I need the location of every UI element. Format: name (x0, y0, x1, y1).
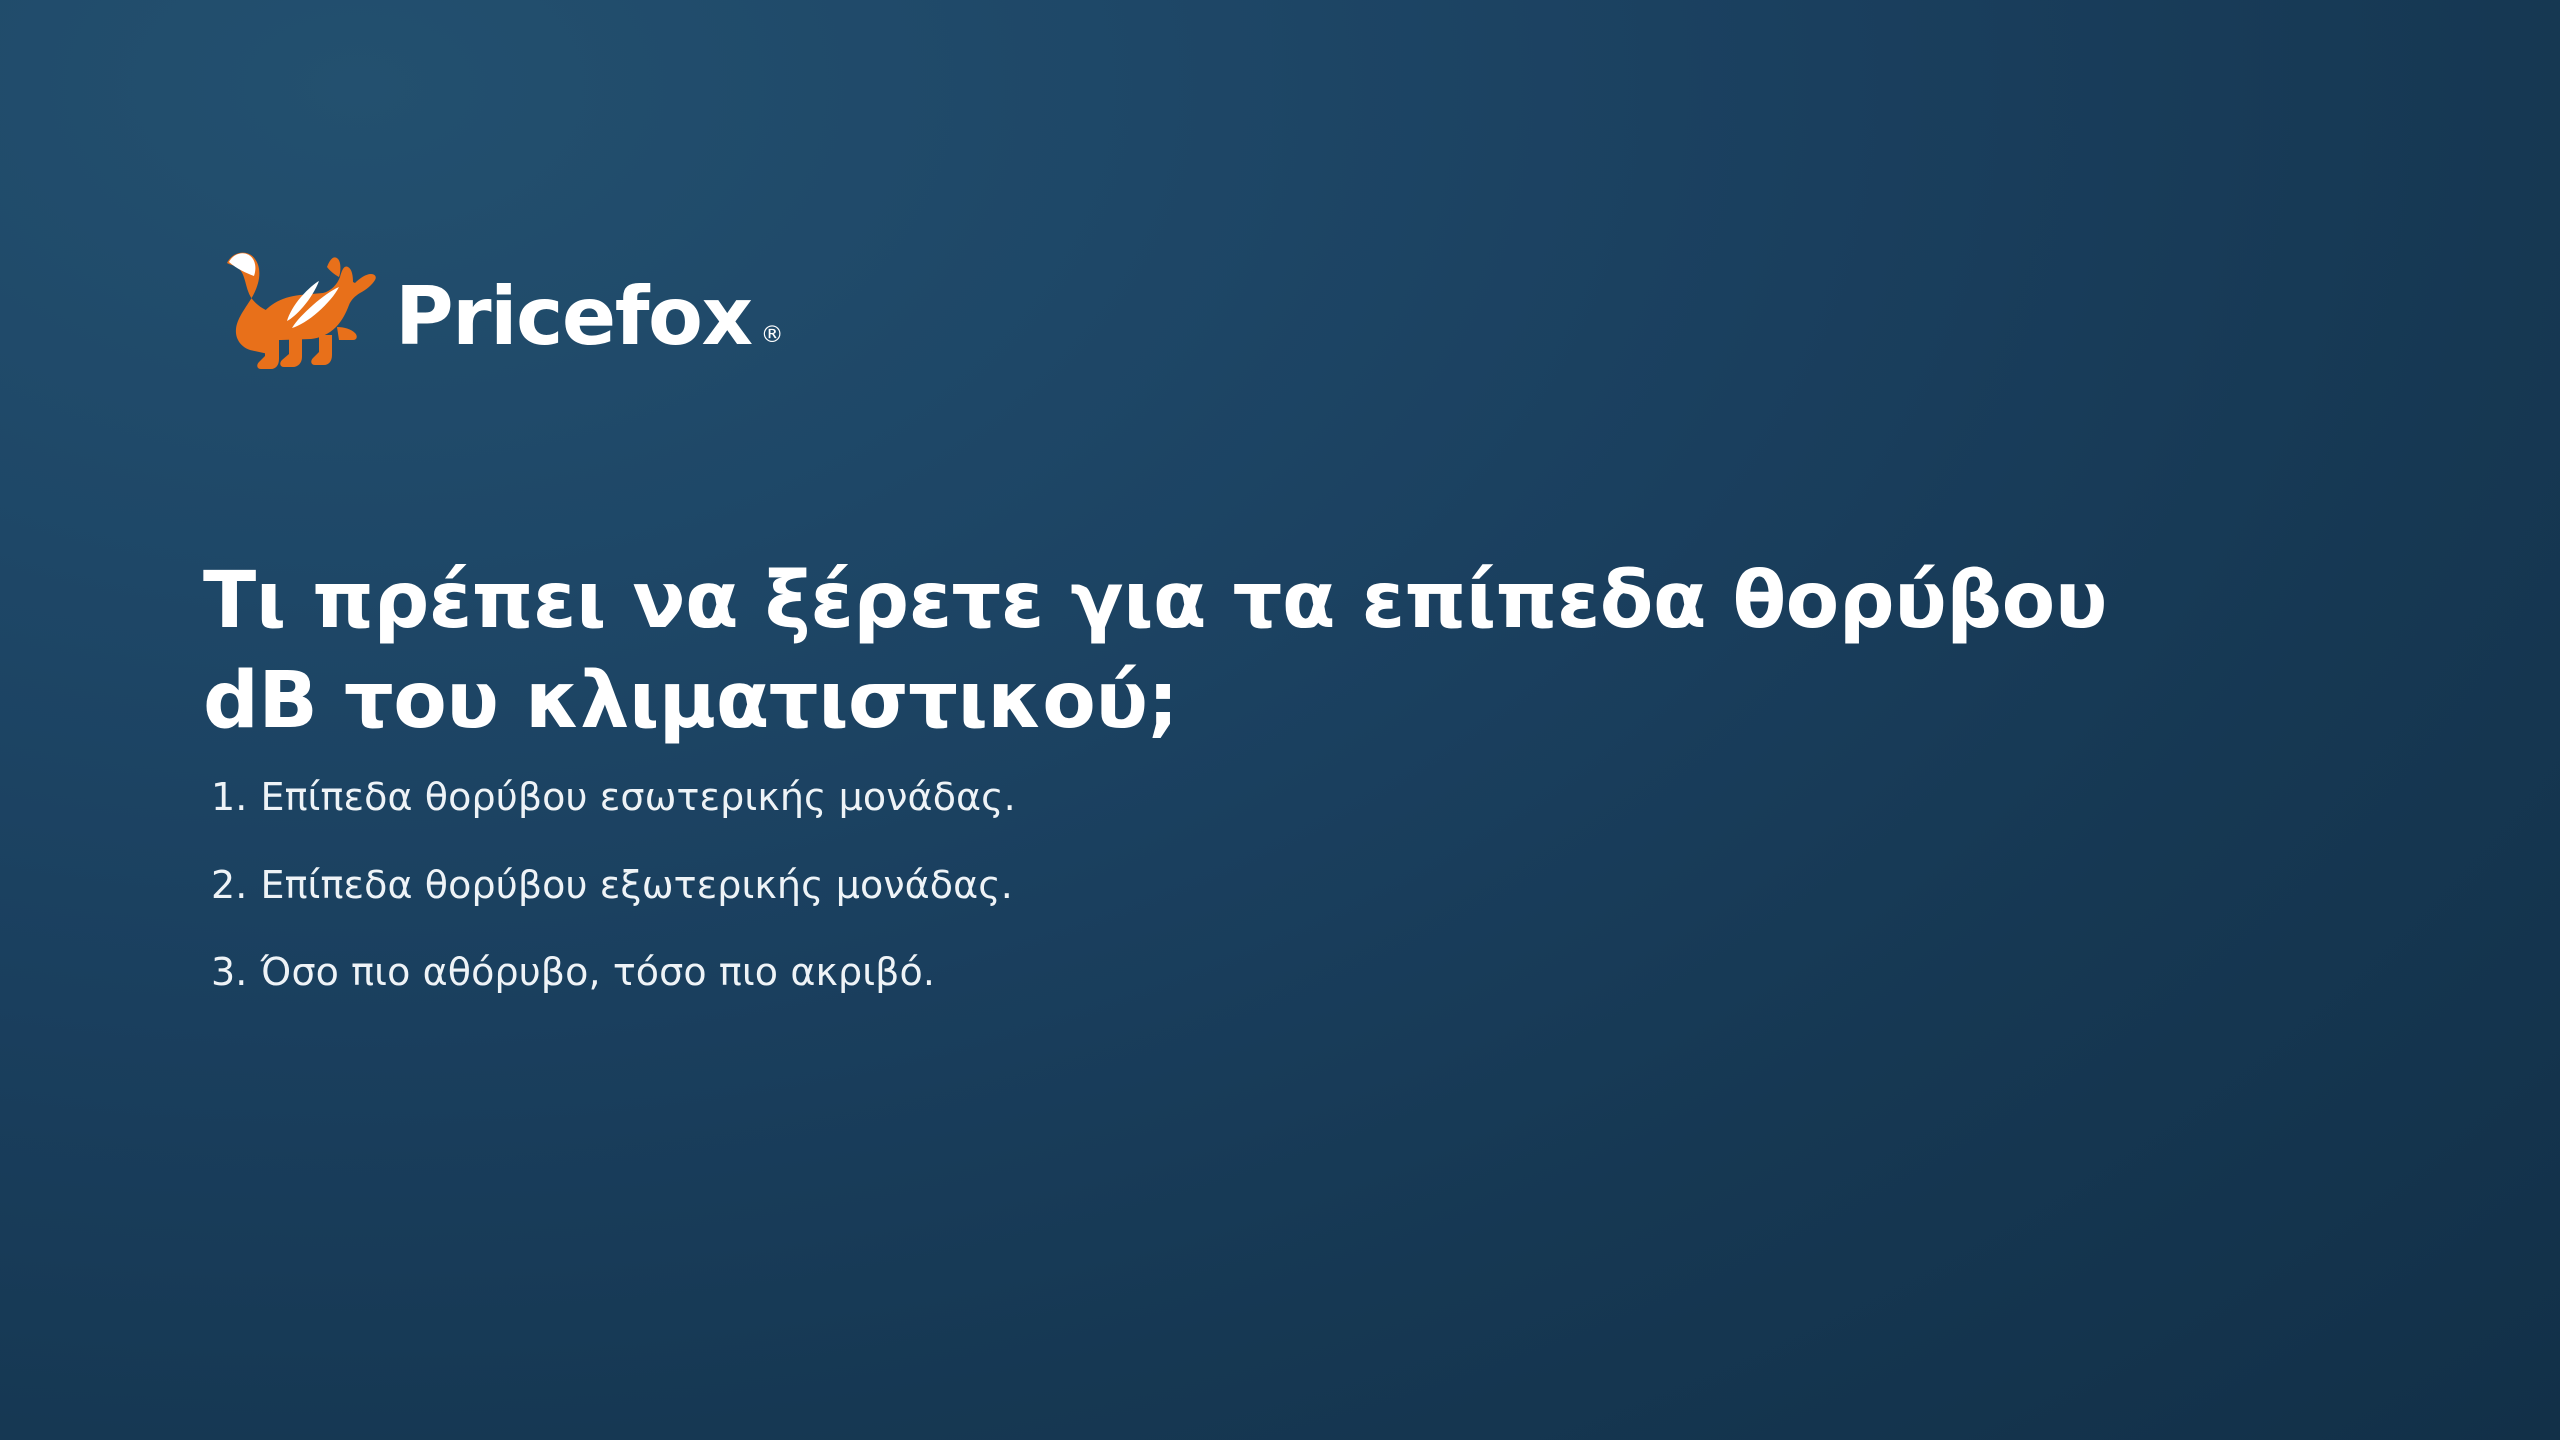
list-item-number: 2. (211, 863, 247, 909)
wordmark: Pricefox ® (395, 271, 784, 351)
list-item-number: 3. (211, 950, 247, 996)
slide-canvas: Pricefox ® Τι πρέπει να ξέρετε για τα επ… (0, 0, 2560, 1440)
brand-name: Pricefox (395, 277, 752, 357)
list-item: 1. Επίπεδα θορύβου εσωτερικής μονάδας. (211, 775, 1911, 821)
list-item-label: Επίπεδα θορύβου εξωτερικής μονάδας. (260, 863, 1012, 909)
fox-logo-icon (203, 243, 381, 379)
list-item-number: 1. (211, 775, 247, 821)
list-item: 2. Επίπεδα θορύβου εξωτερικής μονάδας. (211, 863, 1911, 909)
brand-logo-lockup: Pricefox ® (203, 243, 784, 379)
page-title-line-1: Τι πρέπει να ξέρετε για τα επίπεδα θορύβ… (203, 552, 2303, 652)
list-item-label: Επίπεδα θορύβου εσωτερικής μονάδας. (260, 775, 1015, 821)
page-title-line-2: dB του κλιματιστικού; (203, 652, 2303, 752)
numbered-list: 1. Επίπεδα θορύβου εσωτερικής μονάδας. 2… (211, 775, 1911, 1038)
registered-trademark-icon: ® (761, 324, 784, 347)
list-item-label: Όσο πιο αθόρυβο, τόσο πιο ακριβό. (260, 950, 935, 996)
list-item: 3. Όσο πιο αθόρυβο, τόσο πιο ακριβό. (211, 950, 1911, 996)
page-title: Τι πρέπει να ξέρετε για τα επίπεδα θορύβ… (203, 552, 2303, 752)
